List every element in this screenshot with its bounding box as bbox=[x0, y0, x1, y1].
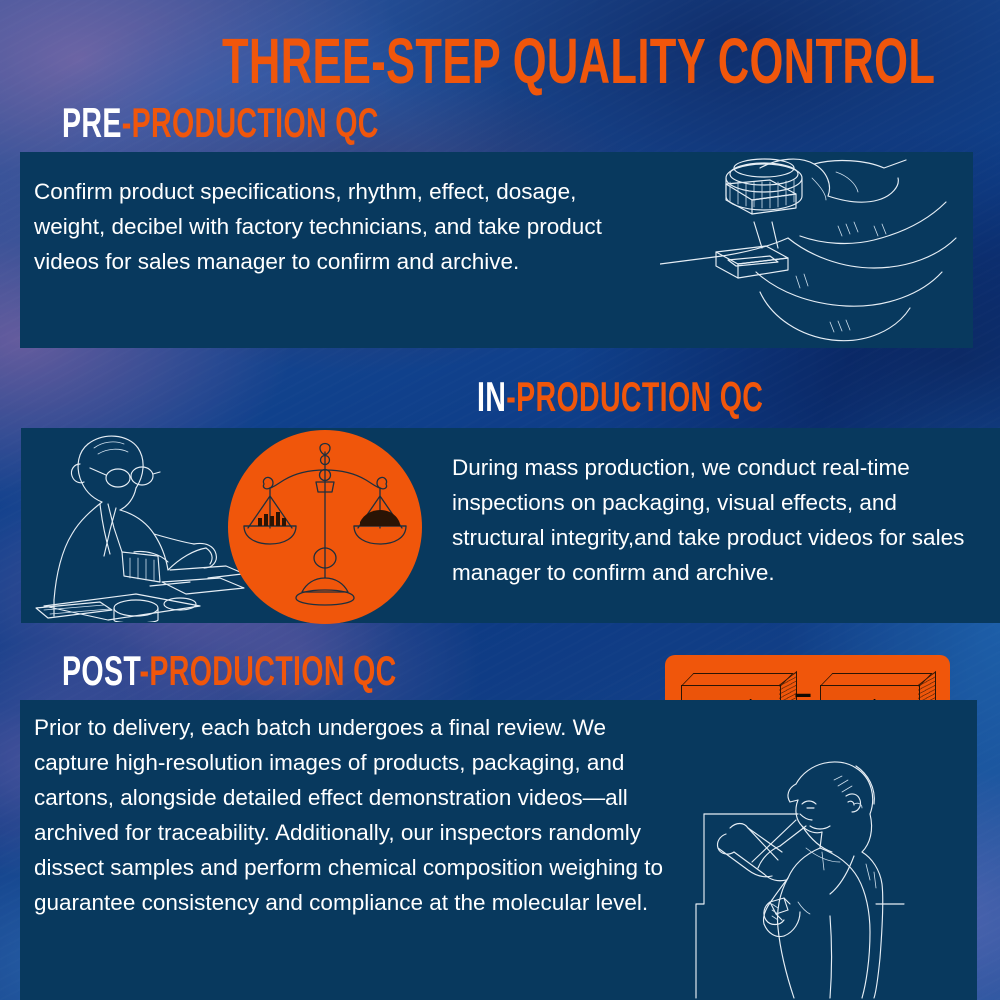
step-heading-in-orange: -PRODUCTION QC bbox=[506, 373, 763, 420]
step-body-post-production: Prior to delivery, each batch undergoes … bbox=[34, 710, 674, 920]
worker-assembling-product-icon bbox=[30, 430, 260, 622]
step-heading-pre-orange: -PRODUCTION QC bbox=[122, 99, 379, 146]
step-heading-pre-white: PRE bbox=[62, 99, 122, 146]
step-heading-in-production: IN-PRODUCTION QC bbox=[477, 376, 763, 418]
step-body-pre-production: Confirm product specifications, rhythm, … bbox=[34, 174, 634, 279]
balance-scale-icon bbox=[228, 430, 422, 624]
step-heading-post-white: POST bbox=[62, 647, 140, 694]
inspector-with-clipboard-icon bbox=[690, 752, 965, 1000]
hand-inspecting-product-icon bbox=[660, 152, 973, 348]
step-heading-post-orange: -PRODUCTION QC bbox=[140, 647, 397, 694]
infographic-canvas: THREE-STEP QUALITY CONTROL PRE-PRODUCTIO… bbox=[0, 0, 1000, 1000]
step-body-in-production: During mass production, we conduct real-… bbox=[452, 450, 987, 590]
page-title: THREE-STEP QUALITY CONTROL bbox=[222, 30, 935, 92]
step-heading-in-white: IN bbox=[477, 373, 506, 420]
step-heading-pre-production: PRE-PRODUCTION QC bbox=[62, 102, 379, 144]
step-heading-post-production: POST-PRODUCTION QC bbox=[62, 650, 397, 692]
